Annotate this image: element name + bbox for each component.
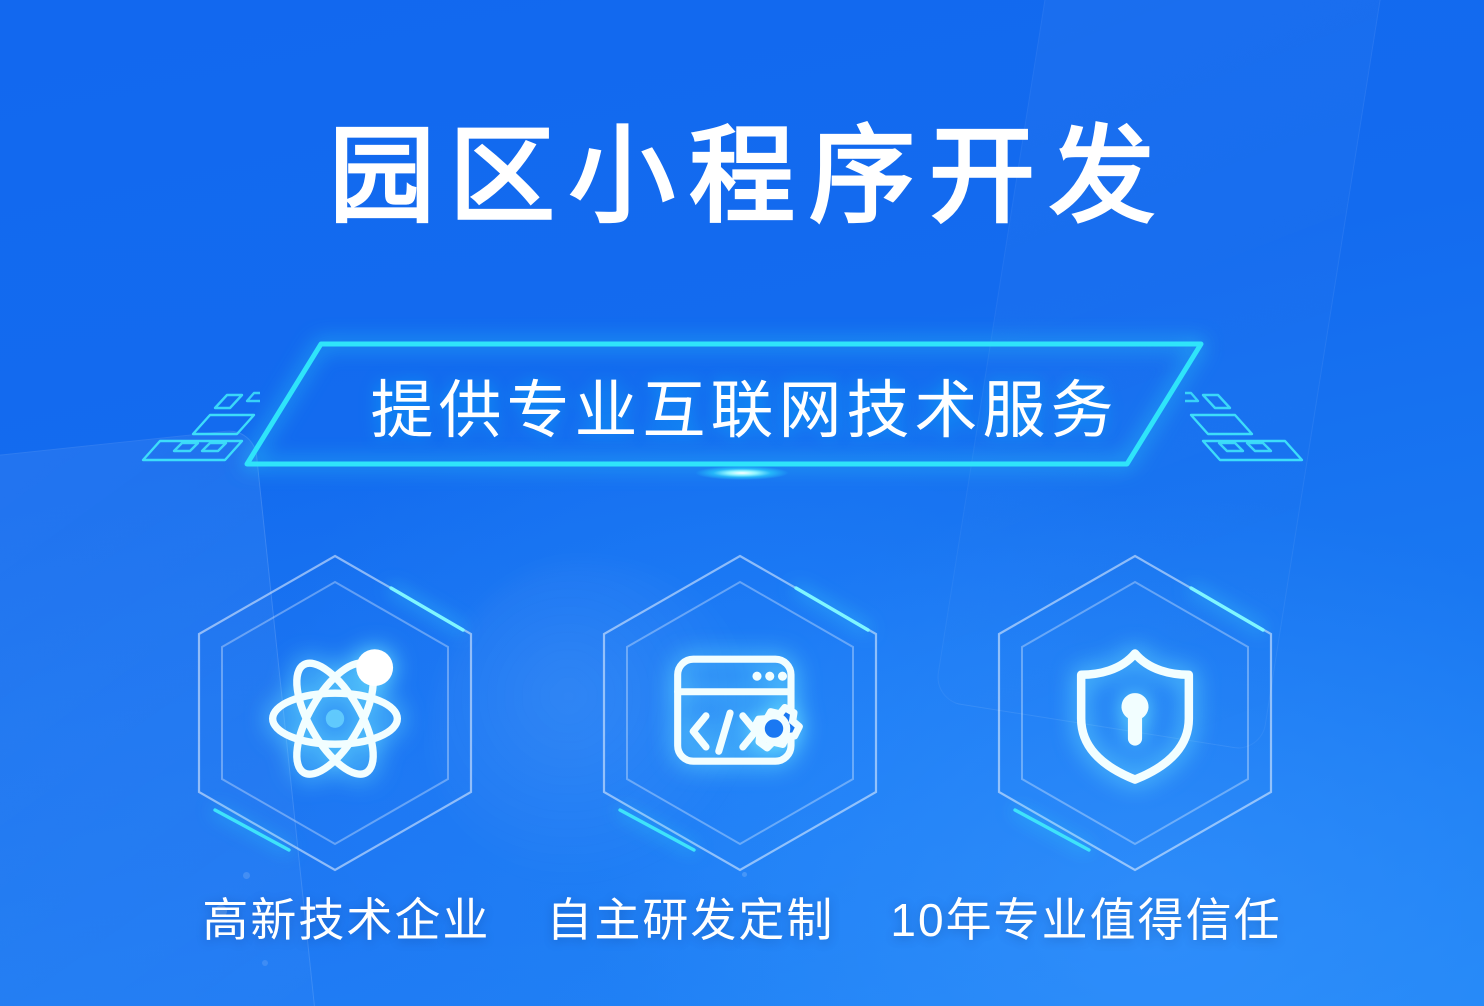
caption-in-house-development: 自主研发定制 <box>546 884 834 950</box>
feature-item-trusted-10-years[interactable] <box>985 548 1285 878</box>
feature-item-high-tech-enterprise[interactable] <box>185 548 485 878</box>
feature-item-in-house-development[interactable] <box>590 548 890 878</box>
caption-high-tech-enterprise: 高新技术企业 <box>202 884 490 950</box>
subtitle-text: 提供专业互联网技术服务 <box>0 360 1484 451</box>
caption-row: 高新技术企业 自主研发定制 10年专业值得信任 <box>0 884 1484 950</box>
atom-icon <box>250 628 420 798</box>
code-window-gear-icon <box>655 628 825 798</box>
background-dot <box>262 960 268 966</box>
page-title: 园区小程序开发 <box>0 118 1484 237</box>
feature-icon-row <box>0 548 1484 878</box>
promotional-banner: 园区小程序开发 <box>0 0 1484 1006</box>
shield-lock-icon <box>1050 628 1220 798</box>
subtitle-banner: 提供专业互联网技术服务 <box>0 338 1484 488</box>
caption-trusted-10-years: 10年专业值得信任 <box>890 884 1281 950</box>
